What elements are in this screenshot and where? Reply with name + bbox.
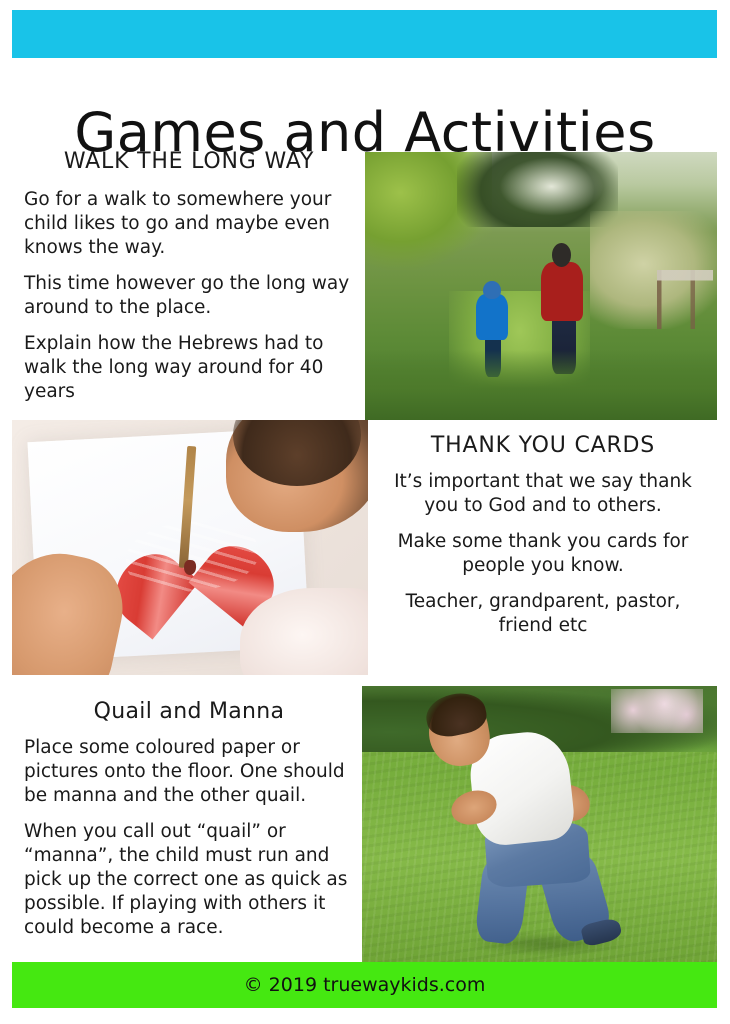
section-paragraph: It’s important that we say thank you to … (378, 470, 708, 518)
foreground-grass (365, 350, 717, 420)
child-blue-jacket (476, 294, 508, 340)
copyright-text: © 2019 truewaykids.com (12, 962, 717, 1008)
child-head (483, 281, 501, 300)
fence (657, 270, 713, 329)
boy-running-photo (362, 686, 717, 962)
header-color-band (12, 10, 717, 58)
printable-activity-page: Games and Activities WALK THE LONG WAY G… (0, 0, 730, 1024)
section-paragraph: Teacher, grandparent, pastor, friend etc (378, 590, 708, 638)
footer-color-band: © 2019 truewaykids.com (12, 962, 717, 1008)
adult-head (552, 243, 571, 267)
child-painting-heart-photo (12, 420, 368, 675)
section-heading-thank-you-cards: THANK YOU CARDS (378, 432, 708, 460)
section-quail-and-manna: Quail and Manna Place some coloured pape… (24, 698, 354, 940)
walking-path-photo (365, 152, 717, 420)
section-paragraph: Explain how the Hebrews had to walk the … (24, 332, 354, 404)
section-heading-walk-the-long-way: WALK THE LONG WAY (24, 148, 354, 176)
section-paragraph: Go for a walk to somewhere your child li… (24, 188, 354, 260)
background-flowers (611, 689, 703, 733)
section-heading-quail-and-manna: Quail and Manna (24, 698, 354, 726)
section-paragraph: This time however go the long way around… (24, 272, 354, 320)
adult-red-jacket (541, 262, 583, 321)
sky-highlight (499, 157, 605, 216)
section-paragraph: When you call out “quail” or “manna”, th… (24, 820, 354, 940)
section-paragraph: Make some thank you cards for people you… (378, 530, 708, 578)
section-thank-you-cards: THANK YOU CARDS It’s important that we s… (378, 432, 708, 638)
section-walk-the-long-way: WALK THE LONG WAY Go for a walk to somew… (24, 148, 354, 404)
section-paragraph: Place some coloured paper or pictures on… (24, 736, 354, 808)
